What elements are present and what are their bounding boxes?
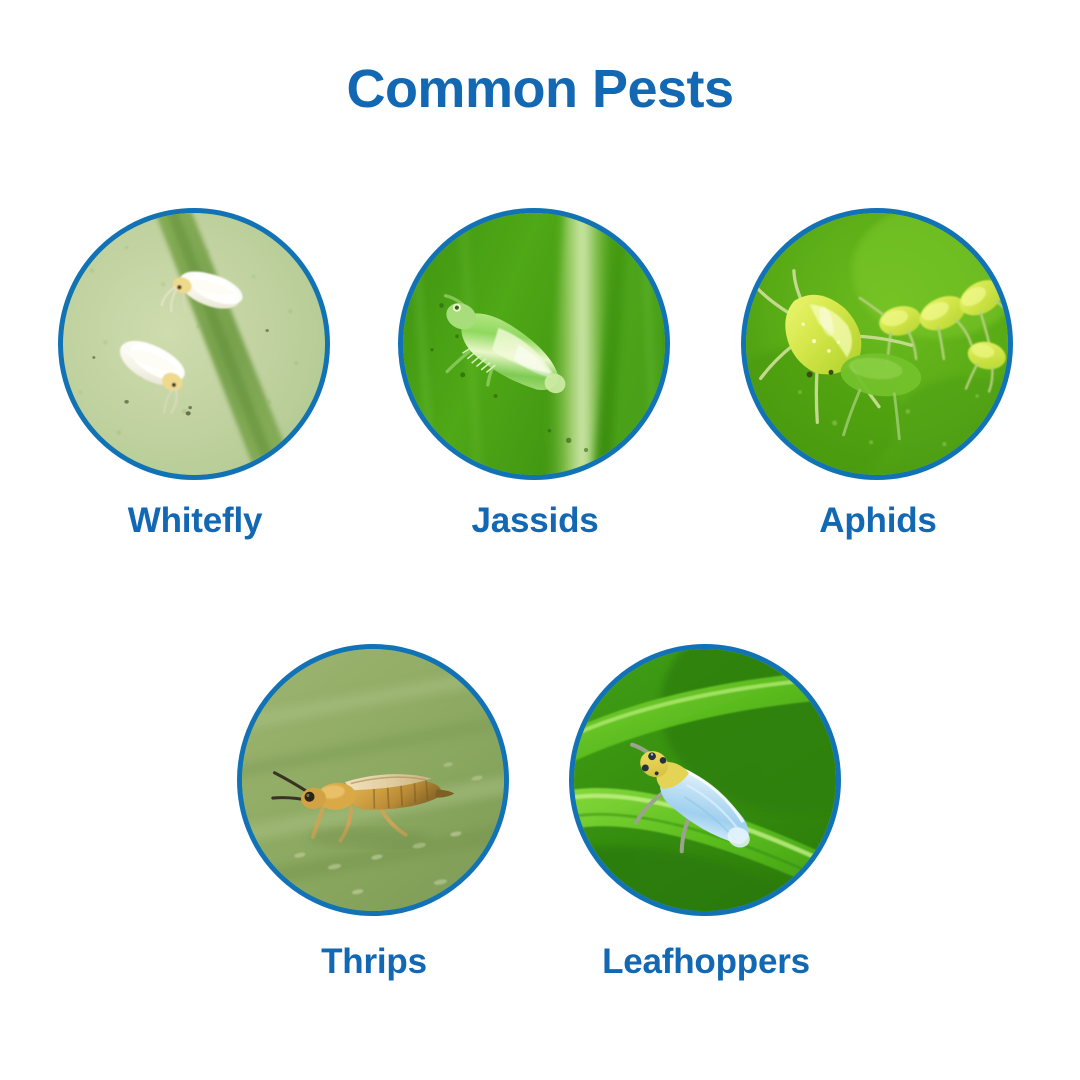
pest-label-whitefly: Whitefly (55, 500, 335, 542)
pest-label-jassids: Jassids (395, 500, 675, 542)
pest-image-leafhoppers[interactable] (569, 644, 841, 916)
pest-image-thrips[interactable] (237, 644, 509, 916)
pest-infographic: Common Pests (0, 0, 1080, 1080)
whitefly-photo (63, 213, 325, 475)
jassids-photo (403, 213, 665, 475)
page-title: Common Pests (0, 58, 1080, 120)
thrips-photo (242, 649, 504, 911)
pest-label-aphids: Aphids (738, 500, 1018, 542)
pest-image-aphids[interactable] (741, 208, 1013, 480)
pest-image-jassids[interactable] (398, 208, 670, 480)
aphids-photo (746, 213, 1008, 475)
pest-label-thrips: Thrips (234, 941, 514, 983)
pest-image-whitefly[interactable] (58, 208, 330, 480)
pest-label-leafhoppers: Leafhoppers (566, 941, 846, 983)
leafhoppers-photo (574, 649, 836, 911)
